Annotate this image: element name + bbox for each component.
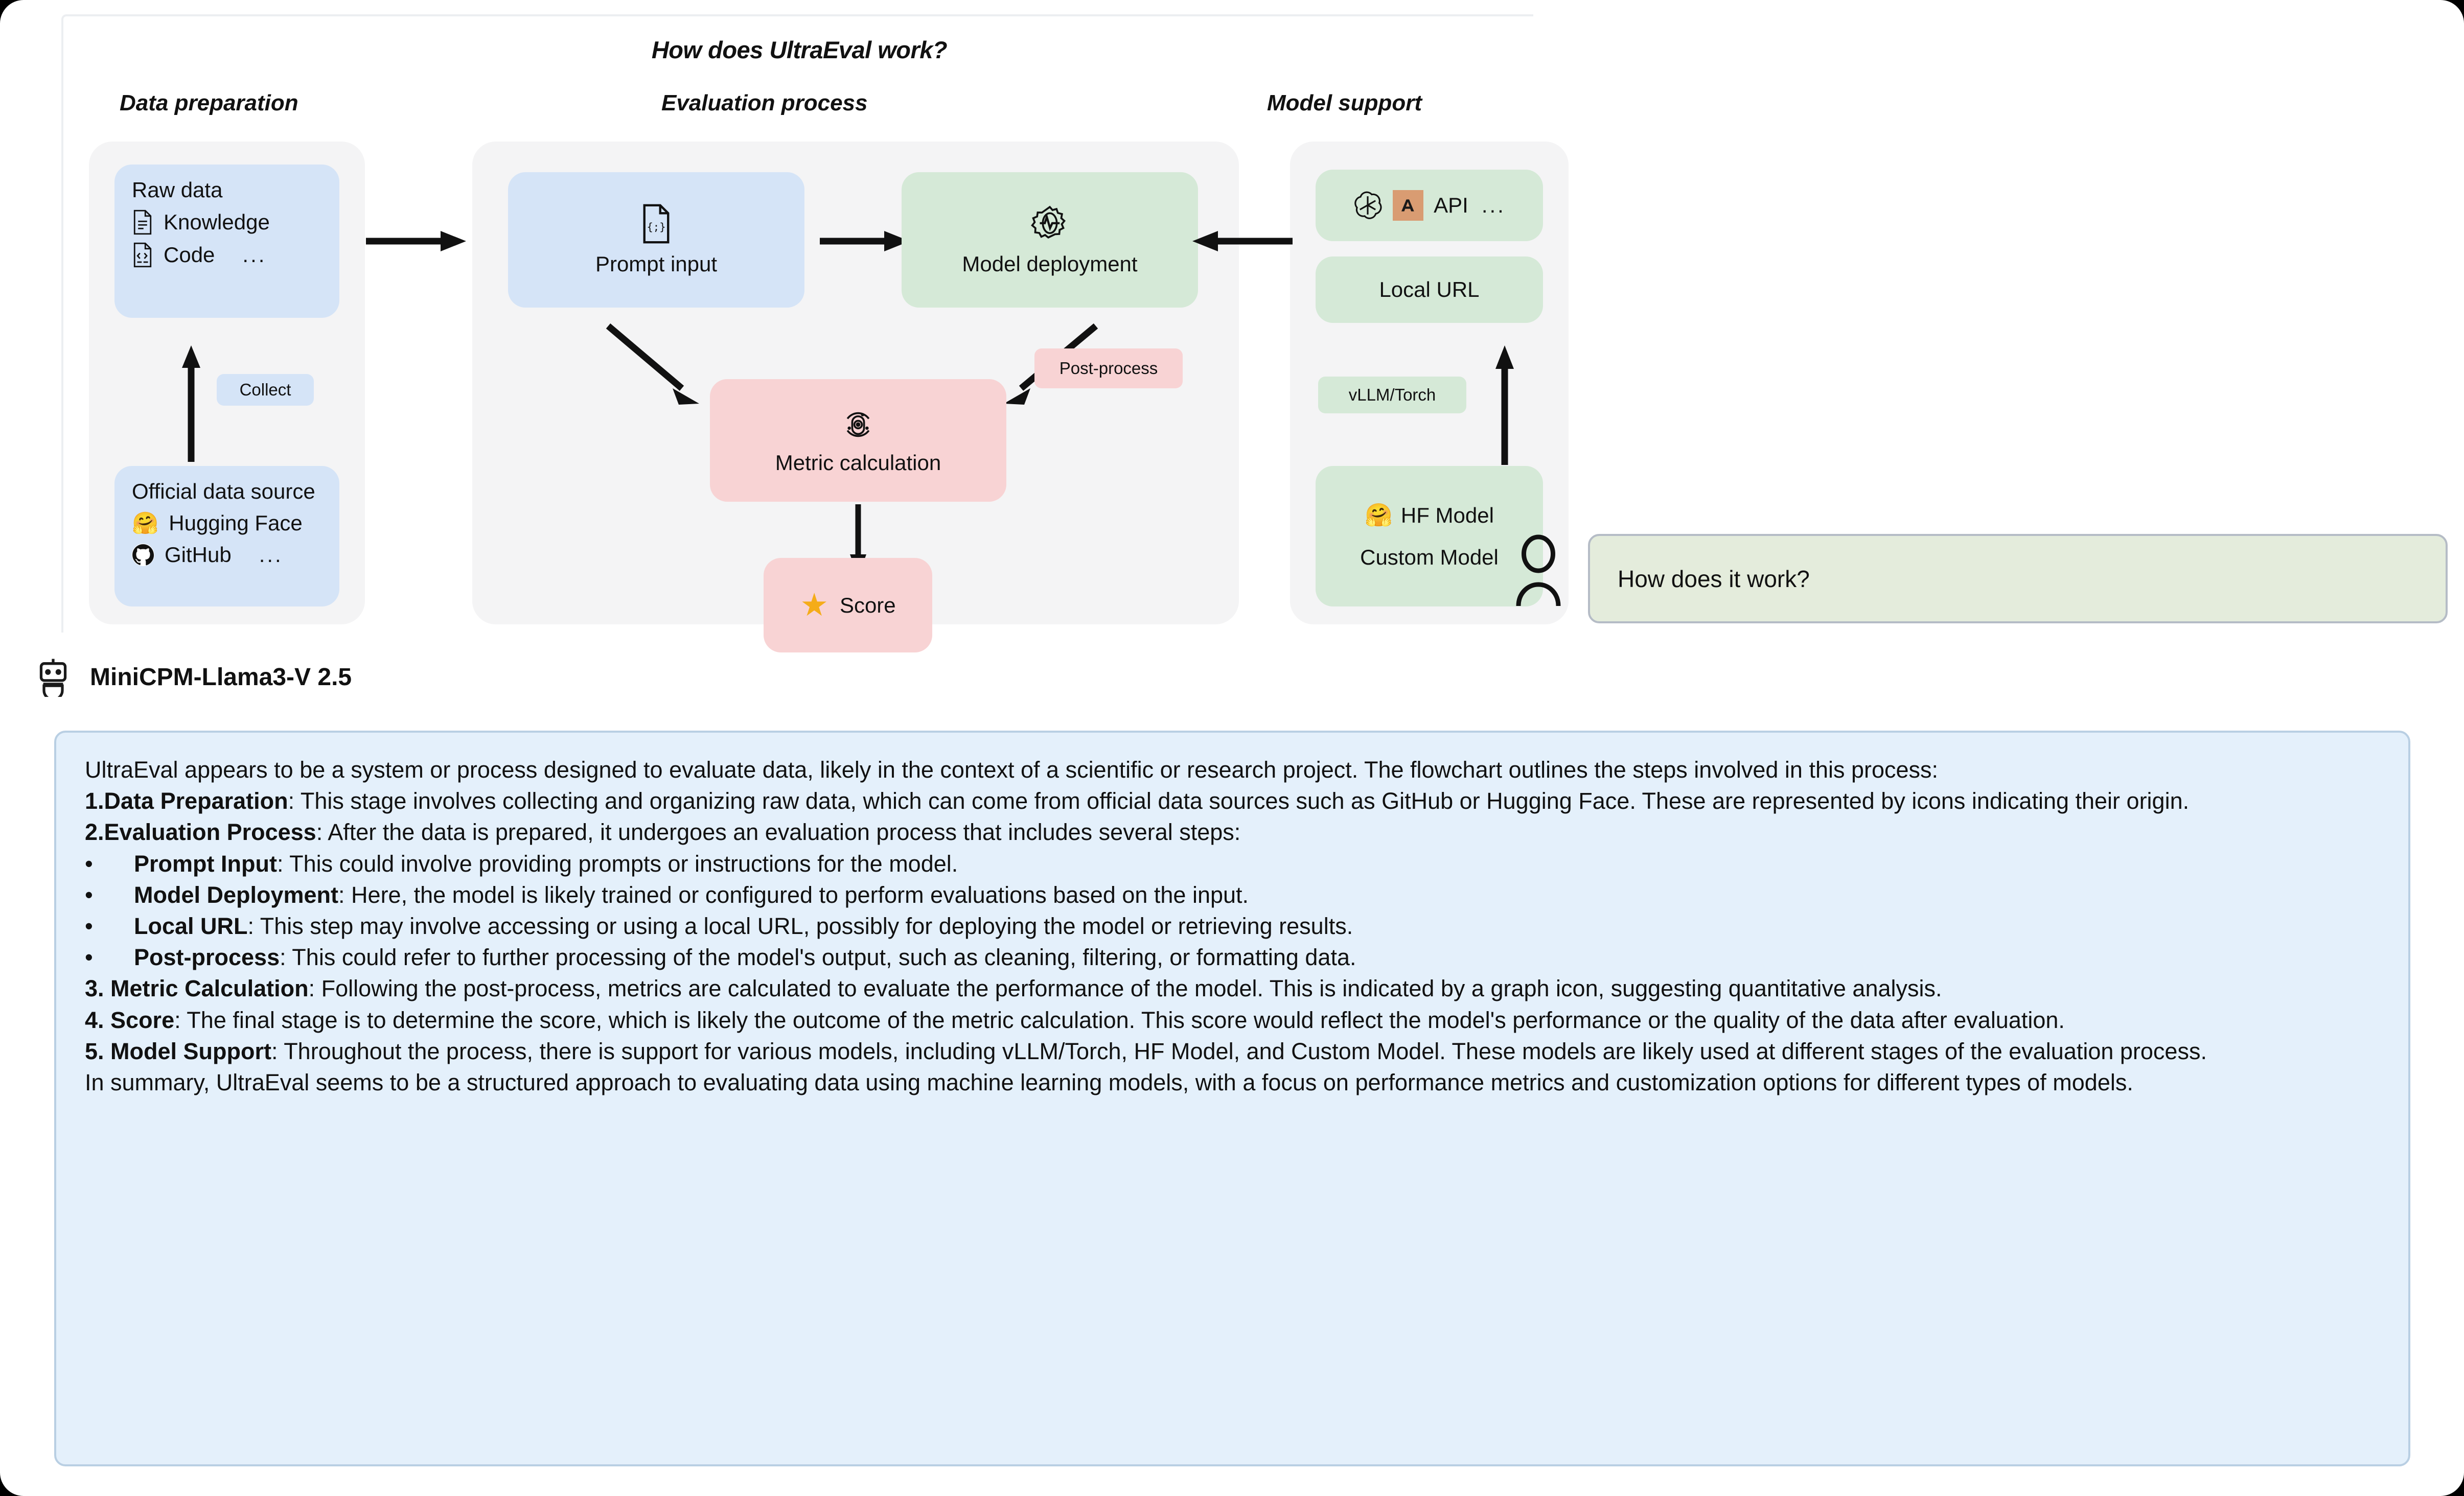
openai-icon [1353, 191, 1383, 220]
column-title-model-support: Model support [1267, 90, 1422, 116]
prompt-input-label: Prompt input [595, 252, 717, 276]
official-source-ellipsis: ... [259, 543, 283, 567]
diagram-title: How does UltraEval work? [63, 36, 1535, 64]
answer-intro: UltraEval appears to be a system or proc… [85, 754, 2380, 785]
bullet-label: Model Deployment [134, 882, 338, 908]
assistant-header-row: MiniCPM-Llama3-V 2.5 [35, 657, 352, 697]
hugging-face-icon: 🤗 [1365, 504, 1393, 527]
hugging-face-icon: 🤗 [132, 512, 158, 534]
raw-data-ellipsis: ... [242, 243, 266, 267]
user-message-row: How does it work? [1515, 534, 2448, 623]
answer-step-4: 4. Score: The final stage is to determin… [85, 1004, 2380, 1036]
bullet-spacer [104, 879, 134, 910]
bullet-body: Model Deployment: Here, the model is lik… [134, 879, 1249, 910]
code-file-icon [132, 242, 153, 268]
answer-step-2-label: 2.Evaluation Process [85, 819, 316, 845]
raw-data-header: Raw data [132, 178, 322, 202]
collect-chip[interactable]: Collect [217, 374, 314, 406]
answer-step-4-label: 4. Score [85, 1007, 174, 1033]
answer-bullet: • Model Deployment: Here, the model is l… [85, 879, 2380, 910]
answer-summary: In summary, UltraEval seems to be a stru… [85, 1067, 2380, 1098]
prompt-file-icon: {;} [640, 204, 672, 244]
user-avatar-icon [1515, 534, 1561, 611]
raw-to-prompt-arrow [366, 231, 468, 251]
github-icon [132, 544, 154, 566]
bullet-glyph: • [85, 942, 104, 973]
official-source-item-label: Hugging Face [169, 511, 303, 535]
bullet-label: Post-process [134, 944, 280, 970]
answer-step-2: 2.Evaluation Process: After the data is … [85, 816, 2380, 848]
official-source-item-label: GitHub [165, 543, 232, 567]
vllm-torch-chip[interactable]: vLLM/Torch [1318, 377, 1466, 413]
hf-model-label: HF Model [1401, 503, 1494, 528]
bullet-spacer [104, 910, 134, 942]
api-ellipsis: ... [1482, 193, 1506, 218]
user-message-bubble: How does it work? [1588, 534, 2448, 623]
models-up-arrow [1489, 343, 1520, 466]
model-deployment-node[interactable]: Model deployment [902, 172, 1198, 308]
bullet-label: Local URL [134, 913, 248, 939]
bullet-body: Post-process: This could refer to furthe… [134, 942, 1356, 973]
score-node[interactable]: ★ Score [764, 558, 932, 652]
local-url-label: Local URL [1379, 277, 1479, 302]
raw-data-box[interactable]: Raw data Knowledge [114, 165, 339, 318]
star-icon: ★ [800, 590, 828, 621]
metric-calculation-node[interactable]: Metric calculation [710, 379, 1006, 502]
prompt-to-metric-arrow [605, 323, 718, 412]
post-process-chip[interactable]: Post-process [1034, 348, 1183, 388]
bullet-body: Local URL: This step may involve accessi… [134, 910, 1353, 942]
official-source-header: Official data source [132, 479, 322, 504]
assistant-answer-card: UltraEval appears to be a system or proc… [54, 731, 2410, 1466]
bullet-label: Prompt Input [134, 851, 277, 877]
answer-step-1: 1.Data Preparation: This stage involves … [85, 785, 2380, 816]
official-source-item-hf[interactable]: 🤗 Hugging Face [132, 511, 322, 535]
official-data-source-box[interactable]: Official data source 🤗 Hugging Face GitH… [114, 466, 339, 606]
answer-step-5: 5. Model Support: Throughout the process… [85, 1036, 2380, 1067]
bullet-text: : Here, the model is likely trained or c… [338, 882, 1249, 908]
assistant-name: MiniCPM-Llama3-V 2.5 [90, 663, 352, 691]
prompt-to-deploy-arrow [820, 231, 912, 251]
answer-step-3-label: 3. Metric Calculation [85, 975, 309, 1001]
local-url-box[interactable]: Local URL [1316, 256, 1543, 323]
bullet-body: Prompt Input: This could involve providi… [134, 848, 958, 879]
robot-icon [35, 657, 72, 697]
bullet-text: : This could involve providing prompts o… [277, 851, 958, 877]
raw-data-item-label: Knowledge [164, 210, 270, 235]
api-label: API [1434, 193, 1468, 218]
prompt-input-node[interactable]: {;} Prompt input [508, 172, 804, 308]
bullet-spacer [104, 942, 134, 973]
raw-data-item-code[interactable]: Code ... [132, 242, 322, 268]
answer-step-5-text: : Throughout the process, there is suppo… [271, 1038, 2207, 1064]
answer-step-3: 3. Metric Calculation: Following the pos… [85, 973, 2380, 1004]
official-source-item-github[interactable]: GitHub ... [132, 543, 322, 567]
support-to-deploy-arrow [1190, 231, 1293, 251]
collect-arrow [176, 343, 206, 463]
gear-pulse-icon [1030, 204, 1070, 244]
svg-text:{;}: {;} [647, 220, 665, 232]
bullet-text: : This could refer to further processing… [280, 944, 1356, 970]
metric-calculation-label: Metric calculation [775, 451, 941, 475]
answer-step-3-text: : Following the post-process, metrics ar… [309, 975, 1942, 1001]
hf-model-row[interactable]: 🤗 HF Model [1365, 503, 1494, 528]
column-title-data-preparation: Data preparation [120, 90, 298, 116]
custom-model-label: Custom Model [1360, 545, 1499, 570]
bullet-glyph: • [85, 910, 104, 942]
bullet-glyph: • [85, 848, 104, 879]
model-deployment-label: Model deployment [962, 252, 1137, 276]
bullet-spacer [104, 848, 134, 879]
score-label: Score [840, 593, 896, 618]
answer-bullet: • Local URL: This step may involve acces… [85, 910, 2380, 942]
answer-step-4-text: : The final stage is to determine the sc… [174, 1007, 2065, 1033]
bullet-text: : This step may involve accessing or usi… [248, 913, 1353, 939]
bullet-glyph: • [85, 879, 104, 910]
column-title-evaluation-process: Evaluation process [661, 90, 867, 116]
anthropic-icon [1393, 190, 1423, 221]
diagram-card: How does UltraEval work? Data preparatio… [61, 14, 1533, 633]
app-root: How does UltraEval work? Data preparatio… [0, 0, 2464, 1496]
metric-atom-icon [839, 406, 877, 443]
raw-data-item-label: Code [164, 243, 215, 267]
answer-step-2-text: : After the data is prepared, it undergo… [316, 819, 1241, 845]
hf-custom-model-box[interactable]: 🤗 HF Model Custom Model [1316, 466, 1543, 606]
answer-step-5-label: 5. Model Support [85, 1038, 271, 1064]
document-icon [132, 209, 153, 235]
answer-bullet: • Prompt Input: This could involve provi… [85, 848, 2380, 879]
answer-step-1-text: : This stage involves collecting and org… [288, 788, 2189, 814]
answer-bullet: • Post-process: This could refer to furt… [85, 942, 2380, 973]
api-box[interactable]: API ... [1316, 170, 1543, 241]
answer-step-1-label: 1.Data Preparation [85, 788, 288, 814]
raw-data-item-knowledge[interactable]: Knowledge [132, 209, 322, 235]
